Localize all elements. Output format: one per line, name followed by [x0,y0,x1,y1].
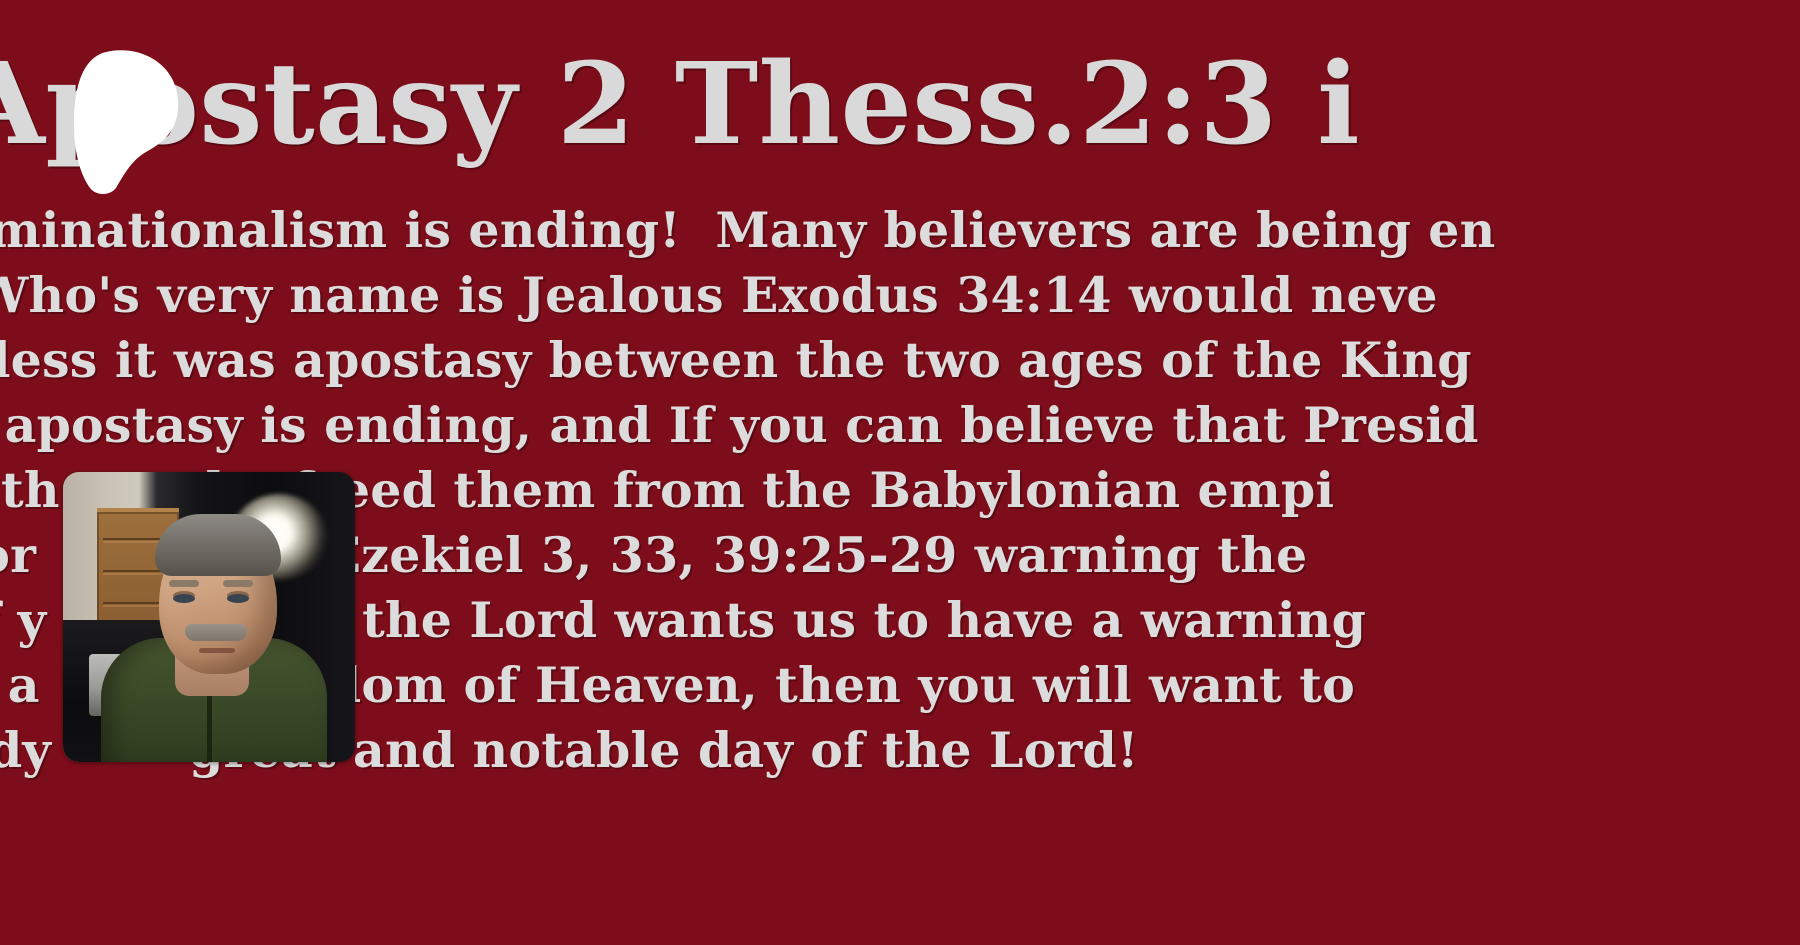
screen-capture: Apostasy 2 Thess.2:3 i ominationalism is… [0,0,1800,945]
presenter-eye-right [227,594,249,603]
presenter-eyebrow-right [223,580,253,587]
webcam-overlay[interactable] [63,472,355,762]
slide-title: Apostasy 2 Thess.2:3 i [0,42,1800,167]
presenter-mouth [199,648,235,653]
presenter-hair [155,514,281,576]
slide-body-line: Who's very name is Jealous Exodus 34:14 … [0,263,1800,328]
slide-body-line: e apostasy is ending, and If you can bel… [0,393,1800,458]
slide-body-line: ominationalism is ending! Many believers… [0,198,1800,263]
slide-body-line: nless it was apostasy between the two ag… [0,328,1800,393]
presenter-eye-left [173,594,195,603]
presenter-moustache [185,624,247,641]
webcam-video-frame [63,472,355,762]
presenter-eyebrow-left [169,580,199,587]
